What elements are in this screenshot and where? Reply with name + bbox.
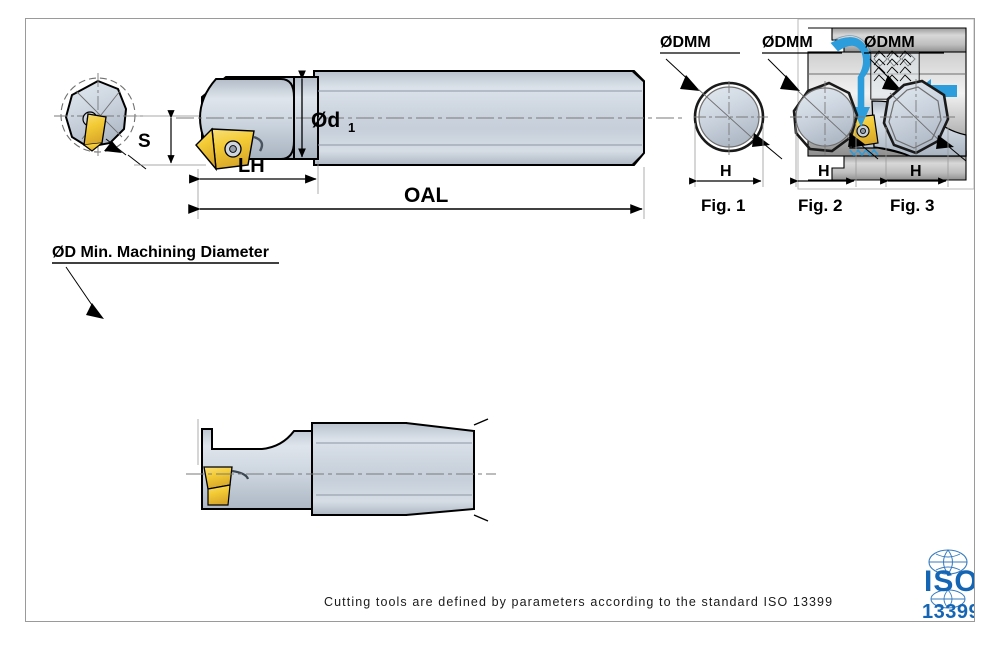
dimension-s: S [124, 116, 206, 165]
dimension-oal-label: OAL [404, 184, 449, 207]
figure-1: ØDMM H Fig. 1 [660, 34, 782, 215]
dimension-s-label: S [138, 131, 151, 152]
min-machining-diameter-label: ØD Min. Machining Diameter [52, 244, 279, 319]
dimension-d1-subscript: 1 [348, 120, 355, 135]
fig2-dmm-label: ØDMM [762, 34, 813, 51]
fig2-caption: Fig. 2 [798, 196, 842, 215]
fig1-h-label: H [720, 163, 732, 180]
dimension-oal: OAL [198, 167, 644, 219]
fig3-h-label: H [910, 163, 922, 180]
diagram-frame: ØD Min. Machining Diameter [25, 18, 975, 622]
iso-13399-logo: ISO 13399 [922, 550, 974, 621]
iso-logo-bottom: 13399 [922, 601, 974, 621]
technical-drawing: ØD Min. Machining Diameter [26, 19, 974, 621]
fig3-caption: Fig. 3 [890, 196, 934, 215]
fig2-h-label: H [818, 163, 830, 180]
fig3-dmm-label: ØDMM [864, 34, 915, 51]
end-view-section [54, 73, 146, 169]
fig1-dmm-label: ØDMM [660, 34, 711, 51]
dimension-lh-label: LH [238, 155, 265, 177]
iso-logo-top: ISO [924, 565, 974, 598]
footer-caption: Cutting tools are defined by parameters … [324, 595, 833, 609]
dimension-d1-label: Ød [311, 109, 340, 132]
boring-bar-top-view [186, 419, 496, 521]
diagram-canvas: ØD Min. Machining Diameter [0, 0, 1000, 646]
od-min-machining-diameter-text: ØD Min. Machining Diameter [52, 244, 269, 261]
fig1-caption: Fig. 1 [701, 196, 745, 215]
